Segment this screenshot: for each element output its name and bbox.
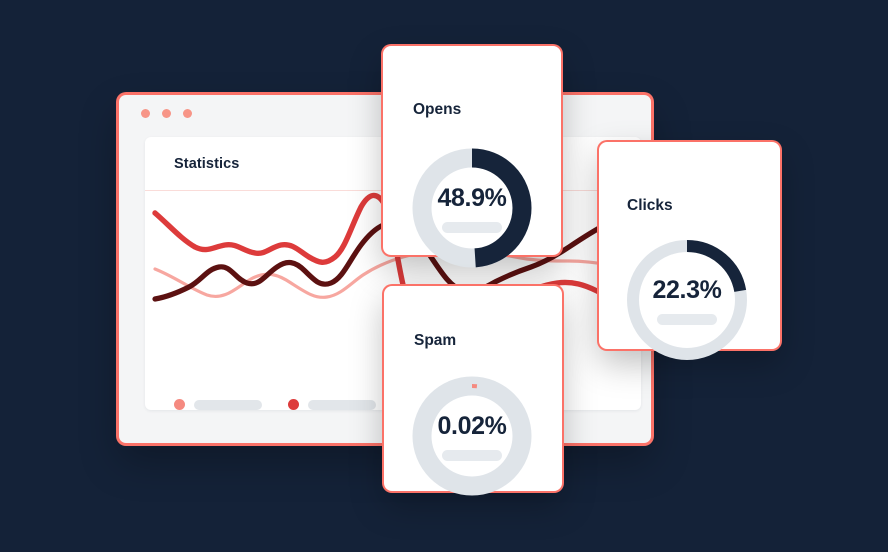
- metric-card-title: Spam: [414, 332, 456, 350]
- metric-card-title: Clicks: [627, 197, 673, 215]
- legend-dot-icon: [174, 399, 185, 410]
- metric-card-title: Opens: [413, 101, 461, 119]
- metric-sublabel-placeholder: [657, 314, 717, 325]
- donut-chart-clicks: 22.3%: [625, 238, 749, 362]
- legend-label-placeholder: [308, 400, 376, 410]
- window-close-icon[interactable]: [141, 109, 150, 118]
- donut-chart-spam: 0.02%: [410, 374, 534, 498]
- donut-center-label: 0.02%: [410, 374, 534, 498]
- metric-sublabel-placeholder: [442, 222, 502, 233]
- window-minimize-icon[interactable]: [162, 109, 171, 118]
- page-title: Statistics: [174, 156, 239, 172]
- metric-value: 22.3%: [653, 276, 722, 305]
- metric-card-opens[interactable]: Opens 48.9%: [383, 46, 561, 255]
- donut-center-label: 22.3%: [625, 238, 749, 362]
- metric-card-clicks[interactable]: Clicks 22.3%: [599, 142, 780, 349]
- legend-label-placeholder: [194, 400, 262, 410]
- metric-sublabel-placeholder: [442, 450, 502, 461]
- window-maximize-icon[interactable]: [183, 109, 192, 118]
- legend-item[interactable]: [288, 399, 376, 410]
- traffic-light-dots: [141, 109, 192, 118]
- donut-chart-opens: 48.9%: [410, 146, 534, 270]
- metric-card-spam[interactable]: Spam 0.02%: [384, 286, 562, 491]
- donut-center-label: 48.9%: [410, 146, 534, 270]
- dashboard-illustration: Statistics: [0, 0, 888, 552]
- metric-value: 48.9%: [438, 184, 507, 213]
- legend-dot-icon: [288, 399, 299, 410]
- metric-value: 0.02%: [438, 412, 507, 441]
- legend-item[interactable]: [174, 399, 262, 410]
